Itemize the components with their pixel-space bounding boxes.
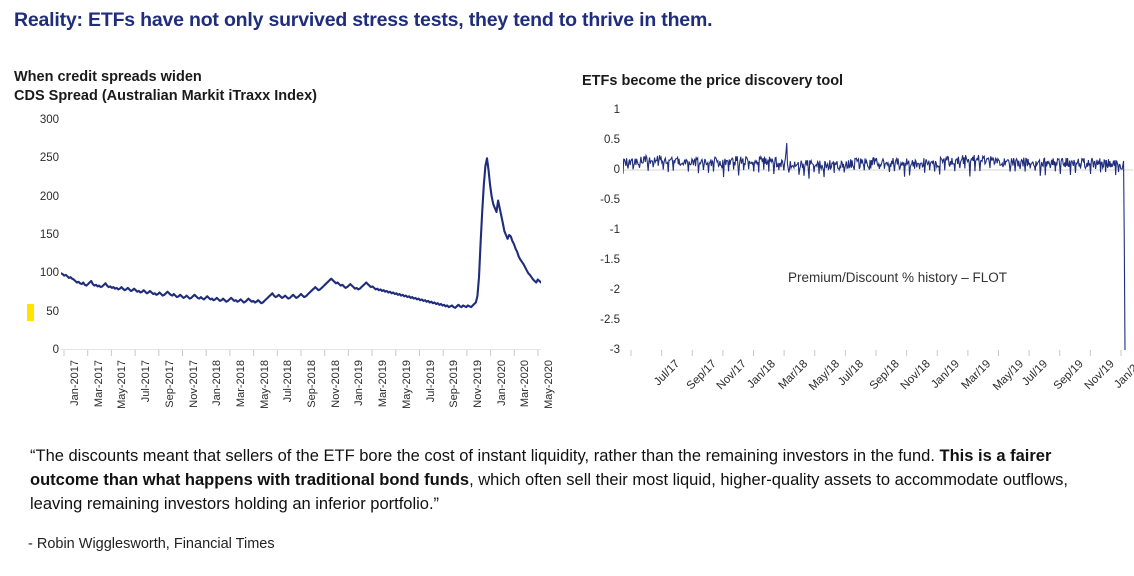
x-tick-label: Sep-2018 [306,360,318,408]
y-tick-0: 0 [614,164,620,176]
quote-part-1: “The discounts meant that sellers of the… [30,447,940,465]
y-tick-neg1p5: -1.5 [600,254,620,266]
chart-panel-flot: ETFs become the price discovery tool 1 0… [575,68,1134,428]
y-tick-50: 50 [46,306,59,318]
chart-title-cds: When credit spreads widen [14,68,202,86]
x-tick-label: Jul/17 [652,358,682,388]
x-axis-ticks-cds [61,350,541,357]
x-axis-cds: Jan-2017Mar-2017May-2017Jul-2017Sep-2017… [61,360,541,430]
y-tick-0p5: 0.5 [604,134,620,146]
chart-title-flot: ETFs become the price discovery tool [582,72,843,90]
y-axis-flot: 1 0.5 0 -0.5 -1 -1.5 -2 -2.5 -3 [575,110,620,350]
y-tick-neg0p5: -0.5 [600,194,620,206]
y-tick-neg2p5: -2.5 [600,314,620,326]
x-tick-label: May-2018 [259,360,271,409]
x-tick-label: May-2017 [116,360,128,409]
x-tick-label: Jul/19 [1019,358,1049,388]
x-tick-label: Jul/18 [836,358,866,388]
quote-attribution: - Robin Wigglesworth, Financial Times [28,536,275,552]
y-axis-cds: 300 250 200 150 100 50 0 [14,120,59,350]
page-title: Reality: ETFs have not only survived str… [14,9,712,32]
x-tick-label: Jan/18 [745,358,778,391]
x-tick-label: Jul-2017 [140,360,152,402]
x-tick-label: Mar-2020 [519,360,531,407]
x-tick-label: Mar-2018 [235,360,247,407]
x-tick-label: Mar-2017 [93,360,105,407]
x-tick-label: Mar-2019 [377,360,389,407]
x-tick-label: Jan-2020 [496,360,508,406]
x-tick-label: Sep-2019 [448,360,460,408]
x-tick-label: May-2020 [543,360,555,409]
plot-area-cds [61,120,541,350]
x-tick-label: May/19 [991,358,1026,393]
x-tick-label: Mar/18 [776,358,810,392]
plot-area-flot: Premium/Discount % history – FLOT [623,110,1133,350]
y-tick-250: 250 [40,152,59,164]
y-tick-300: 300 [40,114,59,126]
y-tick-150: 150 [40,229,59,241]
quote-block: “The discounts meant that sellers of the… [30,444,1110,516]
x-tick-label: Jan/19 [929,358,962,391]
x-tick-label: Sep/17 [684,358,718,392]
x-tick-label: Jan-2019 [353,360,365,406]
y-tick-neg2: -2 [610,284,620,296]
x-tick-label: May-2019 [401,360,413,409]
x-tick-label: Jul-2018 [282,360,294,402]
x-tick-label: Sep/18 [868,358,902,392]
slide: Reality: ETFs have not only survived str… [0,0,1134,576]
y-tick-200: 200 [40,191,59,203]
y-tick-100: 100 [40,267,59,279]
x-tick-label: Nov-2017 [188,360,200,408]
chart-annotation-flot: Premium/Discount % history – FLOT [788,270,1007,285]
x-tick-label: Nov/19 [1082,358,1116,392]
flot-line-svg [623,110,1133,350]
x-tick-label: Jan-2017 [69,360,81,406]
x-tick-label: Jul-2019 [425,360,437,402]
y-tick-neg1: -1 [610,224,620,236]
x-tick-label: Jan-2018 [211,360,223,406]
x-tick-label: Mar/19 [960,358,994,392]
x-tick-label: Nov/18 [899,358,933,392]
y-tick-neg3: -3 [610,344,620,356]
x-tick-label: Sep/19 [1052,358,1086,392]
x-tick-label: Sep-2017 [164,360,176,408]
x-tick-label: May/18 [807,358,842,393]
x-tick-label: Nov-2018 [330,360,342,408]
cds-line-svg [61,120,541,350]
x-tick-label: Jan/20 [1112,358,1134,391]
y-tick-1: 1 [614,104,620,116]
chart-subtitle-cds: CDS Spread (Australian Markit iTraxx Ind… [14,87,317,105]
x-tick-label: Nov-2019 [472,360,484,408]
chart-panel-cds: When credit spreads widen CDS Spread (Au… [14,68,559,428]
highlight-marker [27,304,34,321]
y-tick-0: 0 [53,344,59,356]
x-tick-label: Nov/17 [715,358,749,392]
x-axis-flot: Jul/17Sep/17Nov/17Jan/18Mar/18May/18Jul/… [623,356,1133,426]
